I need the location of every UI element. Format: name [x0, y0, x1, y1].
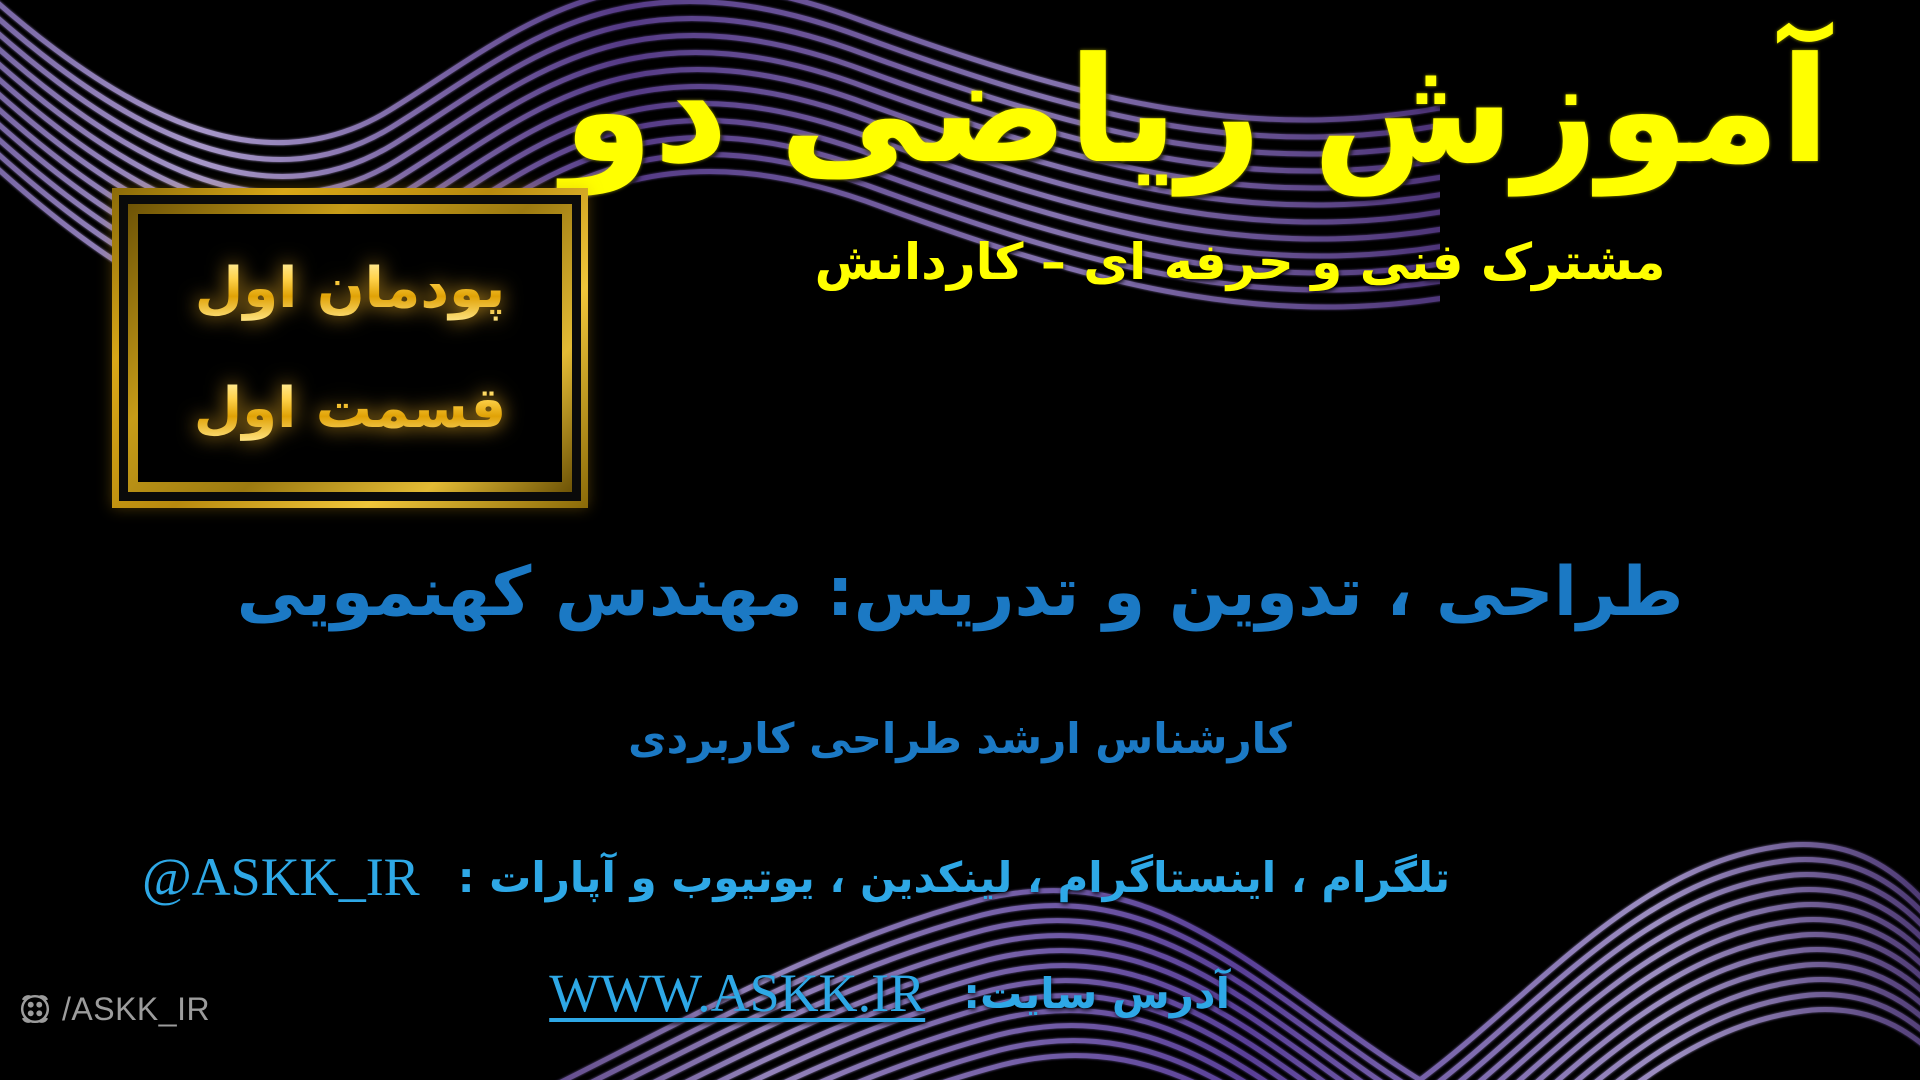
- badge-frame-border: پودمان اول قسمت اول: [119, 195, 581, 501]
- website-contact-row: آدرس سایت: WWW.ASKK.IR: [549, 962, 1230, 1024]
- badge-module-label: پودمان اول: [195, 256, 505, 321]
- aparat-watermark: /ASKK_IR: [16, 990, 210, 1028]
- instructor-credential: کارشناس ارشد طراحی کاربردی: [0, 714, 1920, 763]
- page-subtitle: مشترک فنی و حرفه ای – کاردانش: [650, 233, 1830, 291]
- website-label: آدرس سایت:: [963, 969, 1230, 1018]
- title-block: آموزش ریاضی دو مشترک فنی و حرفه ای – کار…: [650, 20, 1830, 291]
- instructor-name: طراحی ، تدوین و تدریس: مهندس کهنمویی: [0, 553, 1920, 632]
- badge-content: پودمان اول قسمت اول: [138, 214, 562, 482]
- wave-ribbon-bottom-right-icon: [460, 750, 1920, 1080]
- watermark-label: /ASKK_IR: [62, 991, 210, 1028]
- social-platforms-label: تلگرام ، اینستاگرام ، لینکدین ، یوتیوب و…: [458, 853, 1450, 902]
- aparat-icon: [16, 990, 54, 1028]
- module-badge: پودمان اول قسمت اول: [112, 188, 588, 508]
- website-link[interactable]: WWW.ASKK.IR: [549, 962, 925, 1024]
- social-handle[interactable]: @ASKK_IR: [142, 846, 420, 908]
- page-title: آموزش ریاضی دو: [650, 20, 1830, 203]
- badge-part-label: قسمت اول: [194, 376, 507, 441]
- social-contact-row: تلگرام ، اینستاگرام ، لینکدین ، یوتیوب و…: [142, 846, 1450, 908]
- presentation-slide: آموزش ریاضی دو مشترک فنی و حرفه ای – کار…: [0, 0, 1920, 1080]
